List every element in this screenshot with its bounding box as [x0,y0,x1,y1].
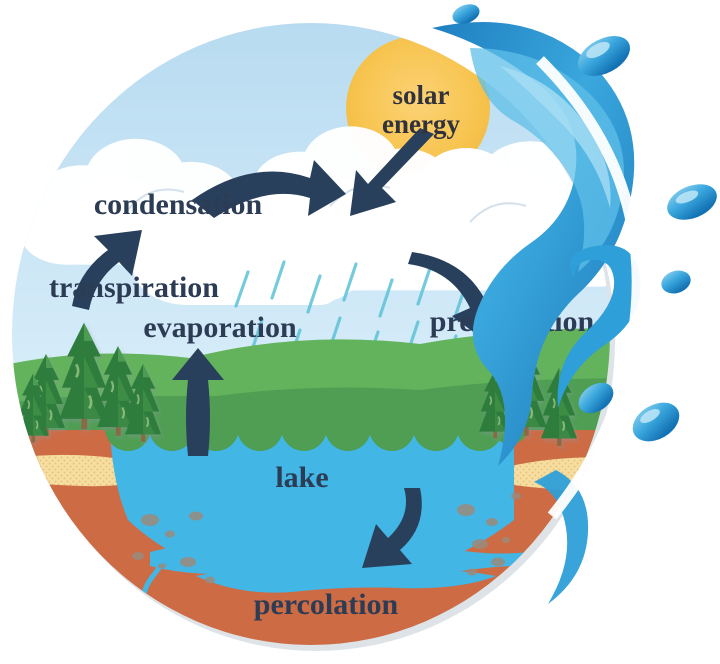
water-cycle-diagram: solar energy condensation transpiration … [0,0,720,664]
water-cycle-illustration: solar energy condensation transpiration … [0,0,720,664]
lake-scallop-edge [104,396,530,451]
label-percolation: percolation [254,588,399,621]
label-lake: lake [275,461,328,494]
label-transpiration: transpiration [49,271,219,304]
label-evaporation: evaporation [143,311,297,344]
label-solar-energy-line2: energy [382,109,460,139]
label-condensation: condensation [94,188,263,221]
label-solar-energy-line1: solar [393,80,450,110]
